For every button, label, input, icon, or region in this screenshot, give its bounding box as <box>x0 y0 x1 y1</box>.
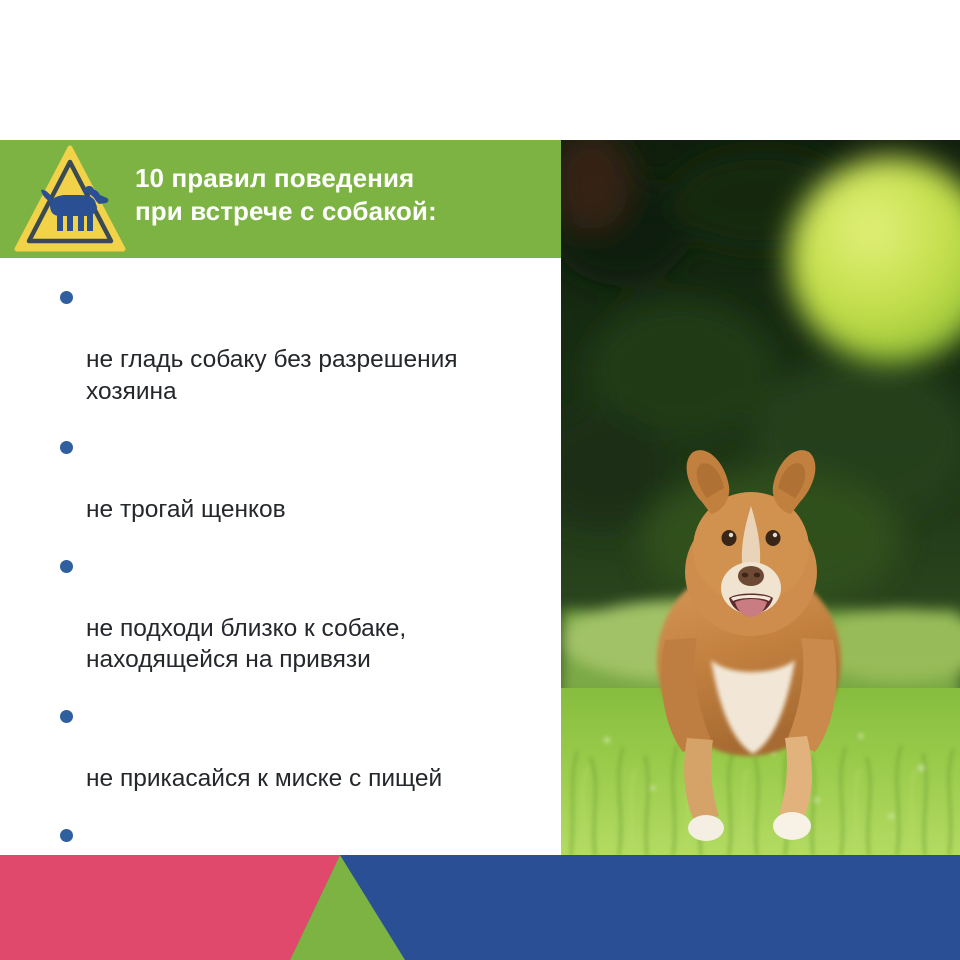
infographic-poster: 10 правил поведения при встрече с собако… <box>0 0 960 960</box>
bottom-color-band <box>0 855 960 960</box>
list-item: не подходи близко к собаке, находящейся … <box>0 549 561 676</box>
list-item-label: не трогай щенков <box>86 496 286 523</box>
bullet-dot-icon <box>60 441 73 454</box>
list-item: не гладь собаку без разрешения хозяина <box>0 280 561 407</box>
bullet-dot-icon <box>60 710 73 723</box>
list-item-label: не гладь собаку без разрешения хозяина <box>86 346 458 405</box>
list-item-label: не прикасайся к миске с пищей <box>86 765 442 792</box>
dog-warning-triangle-icon <box>14 145 126 253</box>
header-bar: 10 правил поведения при встрече с собако… <box>0 140 561 258</box>
bullet-dot-icon <box>60 560 73 573</box>
dog-photo <box>561 140 960 855</box>
list-item: не трогай щенков <box>0 430 561 526</box>
band-pink <box>0 855 340 960</box>
page-title: 10 правил поведения при встрече с собако… <box>135 162 535 228</box>
bullet-dot-icon <box>60 291 73 304</box>
list-item: не прикасайся к миске с пищей <box>0 699 561 795</box>
top-white-margin <box>0 0 960 140</box>
rules-card: 10 правил поведения при встрече с собако… <box>0 140 561 855</box>
list-item-label: не подходи близко к собаке, находящейся … <box>86 615 406 674</box>
bullet-dot-icon <box>60 829 73 842</box>
